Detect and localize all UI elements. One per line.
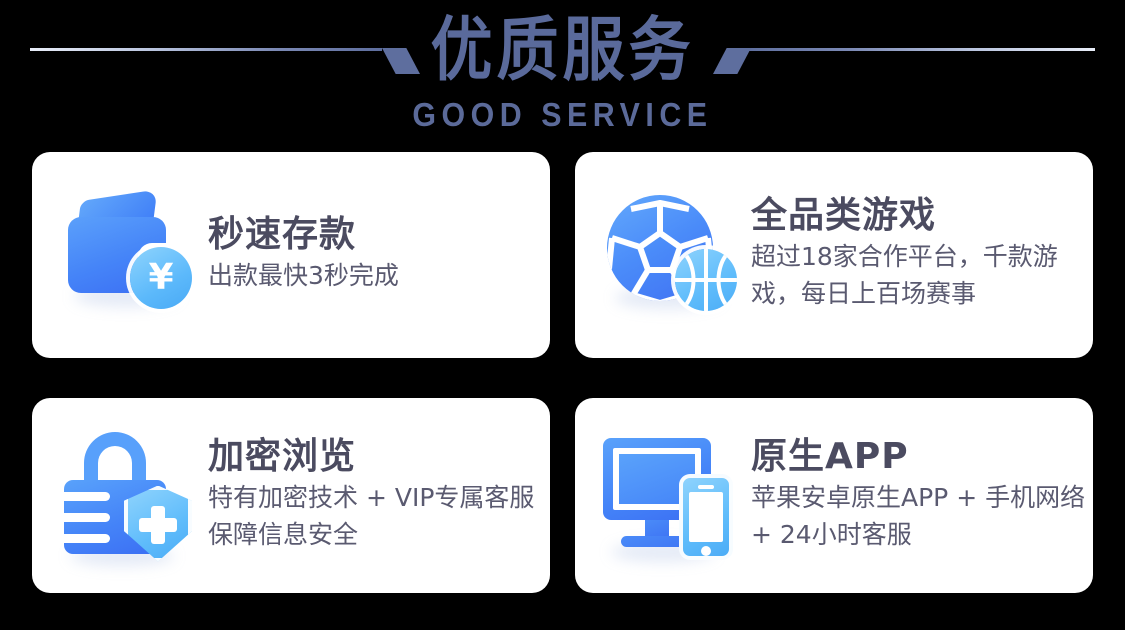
feature-description: 出款最快3秒完成 [208,257,399,294]
yen-coin-icon: ¥ [130,247,192,309]
monitor-stand-neck [645,520,669,538]
feature-title: 加密浏览 [208,435,550,479]
feature-description: 超过18家合作平台，千款游戏，每日上百场赛事 [751,238,1093,312]
padlock-slot [58,534,110,543]
feature-title: 全品类游戏 [751,194,1093,238]
padlock-slot [58,492,110,501]
page-title: 优质服务 [0,4,1125,96]
padlock-shield-icon [58,430,198,562]
feature-card-text: 全品类游戏 超过18家合作平台，千款游戏，每日上百场赛事 [751,194,1093,316]
feature-description: 苹果安卓原生APP + 手机网络 + 24小时客服 [751,479,1093,553]
basketball-lines [675,249,737,311]
feature-title: 秒速存款 [208,213,399,257]
padlock-slot [58,513,110,522]
smartphone-icon [679,474,733,560]
basketball-icon [675,249,737,311]
soccer-basketball-icon [601,189,741,321]
cross-icon [139,518,177,532]
feature-card-text: 原生APP 苹果安卓原生APP + 手机网络 + 24小时客服 [751,435,1093,557]
phone-screen [689,492,723,542]
feature-card-text: 秒速存款 出款最快3秒完成 [208,213,399,298]
feature-card-text: 加密浏览 特有加密技术 + VIP专属客服保障信息安全 [208,435,550,557]
wallet-yen-coin-icon: ¥ [58,189,198,321]
page-subtitle: GOOD SERVICE [45,95,1080,135]
feature-card-games[interactable]: 全品类游戏 超过18家合作平台，千款游戏，每日上百场赛事 [575,152,1093,358]
feature-card-deposit[interactable]: ¥ 秒速存款 出款最快3秒完成 [32,152,550,358]
feature-card-grid: ¥ 秒速存款 出款最快3秒完成 [32,152,1093,593]
feature-card-native-app[interactable]: 原生APP 苹果安卓原生APP + 手机网络 + 24小时客服 [575,398,1093,593]
monitor-smartphone-icon [601,430,741,562]
page-header: 优质服务 GOOD SERVICE [0,0,1125,145]
yen-symbol: ¥ [130,247,192,309]
phone-home-button [701,546,711,556]
phone-speaker [698,485,714,489]
feature-title: 原生APP [751,435,1093,479]
feature-description: 特有加密技术 + VIP专属客服保障信息安全 [208,479,550,553]
feature-card-encryption[interactable]: 加密浏览 特有加密技术 + VIP专属客服保障信息安全 [32,398,550,593]
